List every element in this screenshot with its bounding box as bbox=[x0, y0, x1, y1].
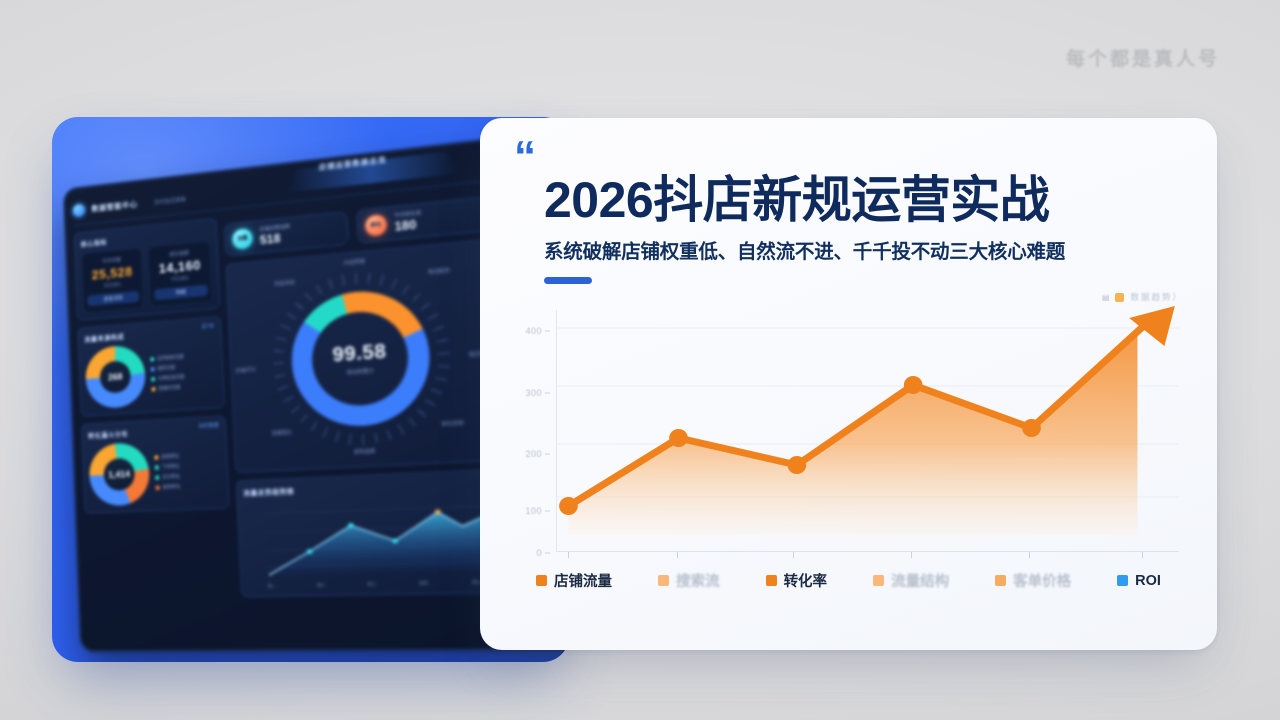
quote-mark-icon: “ bbox=[514, 144, 1183, 170]
legend-item-2[interactable]: 转化率 bbox=[766, 570, 828, 591]
legend-item-1[interactable]: 搜索流 bbox=[658, 570, 720, 591]
legend-label: ROI bbox=[1135, 573, 1161, 589]
data-point bbox=[904, 376, 923, 394]
donut-panel-1: 流量来源构成 近7日 268 自然搜索流量 推荐流量 付费投放流量 直播间流量 bbox=[77, 316, 225, 417]
legend-item: 下单转化 bbox=[155, 463, 180, 470]
legend-swatch-icon bbox=[995, 575, 1006, 586]
x-label: 周一 bbox=[268, 583, 277, 589]
donut-center-value: 268 bbox=[85, 344, 147, 410]
chart-header: ▤ 数据趋势） bbox=[514, 288, 1183, 306]
gauge-center: 99.58 综合权重分 bbox=[332, 340, 388, 376]
y-tick-label: 300 bbox=[525, 388, 542, 398]
orange-badge-icon: 转化 bbox=[365, 213, 388, 236]
gauge-axis-label: 复购指数 bbox=[354, 447, 376, 455]
y-tick-label: 0 bbox=[536, 548, 542, 558]
donut-panel-1-tag[interactable]: 近7日 bbox=[201, 322, 214, 330]
donut-chart: 1,414 bbox=[88, 442, 150, 507]
legend-label: 直播间流量 bbox=[158, 384, 180, 392]
accent-bar bbox=[544, 277, 592, 284]
gauge-axis-label: 商品体验 bbox=[274, 279, 295, 288]
dashboard-title: 数据智能中心 bbox=[91, 198, 138, 214]
chart-header-swatch-icon bbox=[1115, 293, 1124, 302]
gauge-axis-label: 店铺评分 bbox=[235, 366, 256, 375]
legend-item: 自然搜索流量 bbox=[150, 354, 184, 362]
legend-item: 付费投放流量 bbox=[151, 374, 185, 382]
legend-label: 搜索流 bbox=[676, 570, 720, 591]
chart-svg bbox=[556, 310, 1179, 550]
x-axis-ticks bbox=[556, 552, 1179, 558]
x-label: 周三 bbox=[367, 581, 376, 588]
legend-swatch-icon bbox=[156, 486, 160, 490]
legend-swatch-icon bbox=[151, 367, 155, 371]
legend-item: 支付转化 bbox=[155, 474, 180, 481]
chart-legend: 店铺流量 搜索流 转化率 流量结构 客单价格 ROI bbox=[514, 570, 1183, 591]
data-point bbox=[1022, 419, 1041, 437]
donut-chart: 268 bbox=[85, 344, 147, 410]
donut-legend: 加购转化 下单转化 支付转化 复购转化 bbox=[154, 453, 180, 491]
stat-pill-value: 518 bbox=[260, 230, 292, 247]
legend-label: 自然搜索流量 bbox=[157, 354, 184, 362]
legend-label: 流量结构 bbox=[891, 570, 949, 591]
chart-plot: 400 300 200 100 0 bbox=[514, 310, 1183, 568]
gauge-axis-label: 物流服务 bbox=[428, 267, 451, 276]
chart-header-label: 数据趋势） bbox=[1130, 291, 1183, 303]
legend-label: 推荐流量 bbox=[157, 365, 175, 372]
gauge-chart: 99.58 综合权重分 商品体验 物流服务 店铺评分 售后服务 流量配比 转化效… bbox=[233, 247, 496, 466]
legend-swatch-icon bbox=[151, 387, 155, 391]
gauge-panel: 99.58 综合权重分 商品体验 物流服务 店铺评分 售后服务 流量配比 转化效… bbox=[225, 238, 504, 473]
legend-item-5[interactable]: ROI bbox=[1117, 573, 1161, 589]
kpi-card[interactable]: 成交金额 14,160 环比增长 明细 bbox=[148, 240, 214, 308]
x-label: 周二 bbox=[317, 582, 326, 589]
legend-swatch-icon bbox=[536, 575, 547, 586]
legend-item: 加购转化 bbox=[154, 453, 179, 460]
legend-label: 付费投放流量 bbox=[158, 374, 185, 382]
data-point bbox=[559, 497, 578, 515]
stat-pill-value: 180 bbox=[394, 217, 422, 234]
donut-panel-2: 转化漏斗分布 实时数据 1,414 加购转化 下单转化 支付转化 复购转化 bbox=[81, 415, 230, 514]
data-point bbox=[669, 429, 688, 447]
legend-swatch-icon bbox=[154, 455, 158, 459]
legend-label: 复购转化 bbox=[162, 484, 180, 491]
legend-item: 复购转化 bbox=[156, 484, 181, 491]
mini-area-chart bbox=[244, 493, 504, 584]
donut-legend: 自然搜索流量 推荐流量 付费投放流量 直播间流量 bbox=[150, 354, 185, 392]
stat-pill[interactable]: 转化 今日转化率 180 bbox=[356, 196, 490, 244]
donut-center-value: 1,414 bbox=[88, 442, 150, 507]
legend-swatch-icon bbox=[873, 575, 884, 586]
legend-label: 下单转化 bbox=[162, 463, 180, 470]
legend-label: 加购转化 bbox=[161, 453, 179, 460]
circle-logo-icon bbox=[73, 203, 86, 217]
x-label: 周四 bbox=[419, 580, 428, 587]
legend-swatch-icon bbox=[151, 377, 155, 381]
gauge-axis-label: 内容质量 bbox=[343, 258, 365, 267]
legend-swatch-icon bbox=[155, 476, 159, 480]
dashboard-subtitle: 实时监控面板 bbox=[154, 194, 187, 205]
legend-label: 转化率 bbox=[784, 570, 828, 591]
gauge-axis-label: 流量配比 bbox=[271, 429, 292, 437]
watermark-text: 每个都是真人号 bbox=[1066, 44, 1220, 71]
kpi-button[interactable]: 明细 bbox=[154, 285, 208, 301]
gauge-axis-label: 转化效率 bbox=[441, 419, 464, 428]
legend-swatch-icon bbox=[150, 357, 154, 361]
legend-swatch-icon bbox=[155, 465, 159, 469]
data-point bbox=[788, 456, 807, 474]
page-title: 2026抖店新规运营实战 bbox=[544, 174, 1183, 226]
stat-pill[interactable]: 流量 店铺流量指数 518 bbox=[224, 211, 350, 257]
y-axis: 400 300 200 100 0 bbox=[514, 310, 554, 568]
chart-block: ▤ 数据趋势） 400 300 200 100 0 bbox=[514, 288, 1183, 618]
page-subtitle: 系统破解店铺权重低、自然流不进、千千投不动三大核心难题 bbox=[544, 235, 1183, 264]
legend-label: 支付转化 bbox=[162, 474, 180, 481]
legend-label: 店铺流量 bbox=[554, 570, 612, 591]
legend-item-4[interactable]: 客单价格 bbox=[995, 570, 1071, 591]
legend-item-3[interactable]: 流量结构 bbox=[873, 570, 949, 591]
cyan-badge-icon: 流量 bbox=[232, 227, 253, 249]
kpi-card[interactable]: 今日访客 25,528 同比增长 查看详情 bbox=[81, 247, 144, 313]
hero-content-card: “ 2026抖店新规运营实战 系统破解店铺权重低、自然流不进、千千投不动三大核心… bbox=[480, 118, 1217, 650]
legend-item: 直播间流量 bbox=[151, 384, 185, 392]
y-tick-label: 400 bbox=[525, 326, 542, 336]
chart-area bbox=[556, 310, 1179, 550]
mini-area-svg bbox=[244, 493, 504, 584]
calendar-icon[interactable]: ▤ bbox=[1102, 293, 1110, 302]
y-tick-label: 100 bbox=[525, 506, 542, 516]
donut-panel-2-tag[interactable]: 实时数据 bbox=[199, 422, 219, 430]
legend-swatch-icon bbox=[658, 575, 669, 586]
legend-label: 客单价格 bbox=[1013, 570, 1071, 591]
kpi-panel: 核心指标 今日访客 25,528 同比增长 查看详情 成交金额 14,160 bbox=[74, 217, 221, 320]
legend-swatch-icon bbox=[766, 575, 777, 586]
y-tick-label: 200 bbox=[525, 449, 542, 459]
gauge-value: 99.58 bbox=[332, 340, 387, 367]
kpi-button[interactable]: 查看详情 bbox=[87, 291, 139, 306]
legend-item-0[interactable]: 店铺流量 bbox=[536, 570, 612, 591]
area-panel: 流量走势趋势图 bbox=[236, 468, 513, 597]
legend-swatch-icon bbox=[1117, 575, 1128, 586]
legend-item: 推荐流量 bbox=[151, 364, 185, 372]
